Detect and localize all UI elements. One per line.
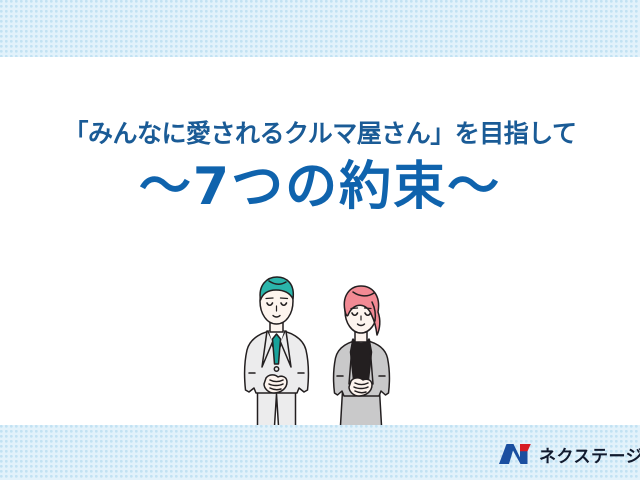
male-staff-figure [245, 277, 309, 434]
male-brow-right [281, 298, 288, 299]
headline-primary: 「みんなに愛されるクルマ屋さん」を目指して [0, 118, 640, 149]
headline-secondary: 〜7つの約束〜 [0, 159, 640, 215]
female-brow-right [365, 308, 372, 309]
staff-illustration [236, 272, 416, 437]
dotted-band-top [0, 0, 640, 57]
staff-illustration-svg [236, 272, 416, 437]
brand-logo: ネクステージ [498, 440, 640, 468]
female-inner-top [351, 339, 372, 384]
promo-banner: 「みんなに愛されるクルマ屋さん」を目指して 〜7つの約束〜 [0, 0, 640, 480]
female-brow-left [351, 308, 358, 309]
brand-name: ネクステージ [539, 442, 640, 467]
logo-mark-red [520, 444, 531, 451]
male-necktie [273, 334, 281, 364]
male-brow-left [266, 298, 273, 299]
nextage-n-logo-icon [498, 443, 532, 465]
male-jacket-button [274, 367, 278, 371]
headline-block: 「みんなに愛されるクルマ屋さん」を目指して 〜7つの約束〜 [0, 118, 640, 215]
female-staff-figure [334, 286, 390, 434]
